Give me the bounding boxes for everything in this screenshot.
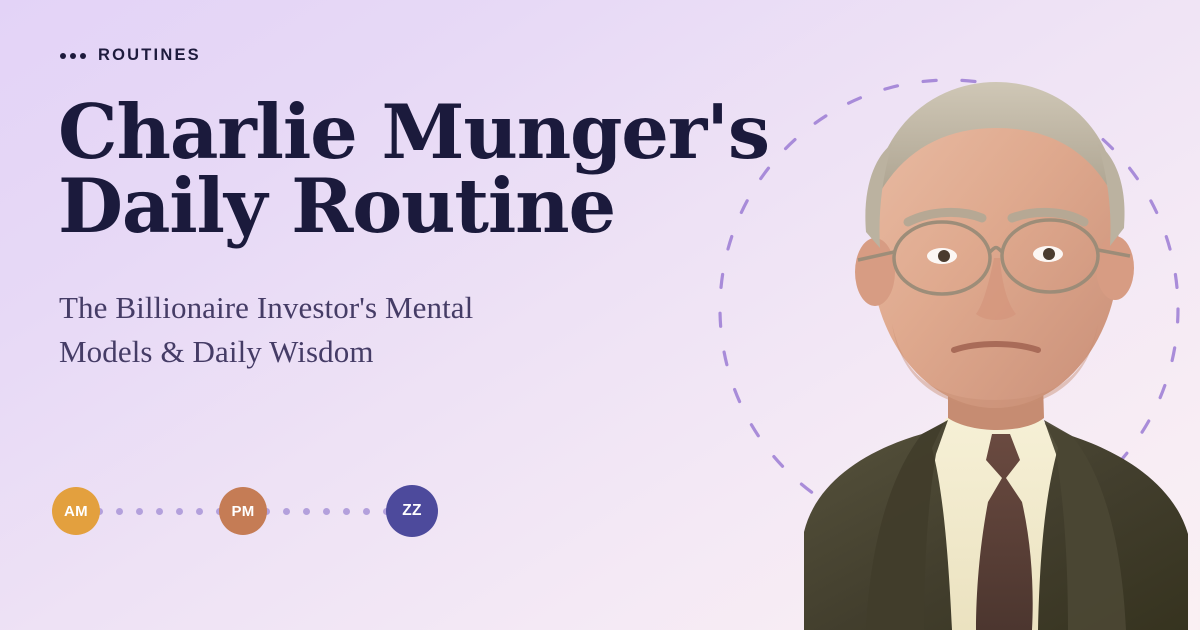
kicker: ROUTINES — [60, 46, 201, 65]
kicker-dots-icon — [60, 53, 86, 59]
timeline-connector-pm-zz — [263, 508, 390, 515]
timeline-connector-am-pm — [96, 508, 223, 515]
routine-timeline: AM PM ZZ — [52, 485, 438, 537]
page-title: Charlie Munger's Daily Routine — [58, 96, 758, 243]
timeline-badge-pm-label: PM — [231, 503, 254, 520]
portrait-image — [796, 62, 1192, 630]
timeline-badge-am[interactable]: AM — [52, 487, 100, 535]
page-title-line-2: Daily Routine — [58, 170, 758, 244]
page-subtitle: The Billionaire Investor's Mental Models… — [59, 286, 619, 374]
page-subtitle-line-2: Models & Daily Wisdom — [59, 330, 619, 374]
timeline-badge-am-label: AM — [64, 503, 88, 520]
page-title-line-1: Charlie Munger's — [58, 96, 758, 170]
poster-canvas: ROUTINES Charlie Munger's Daily Routine … — [0, 0, 1200, 630]
kicker-label: ROUTINES — [98, 46, 201, 65]
timeline-badge-pm[interactable]: PM — [219, 487, 267, 535]
timeline-badge-zz[interactable]: ZZ — [386, 485, 438, 537]
timeline-badge-zz-label: ZZ — [402, 502, 422, 520]
page-subtitle-line-1: The Billionaire Investor's Mental — [59, 286, 619, 330]
